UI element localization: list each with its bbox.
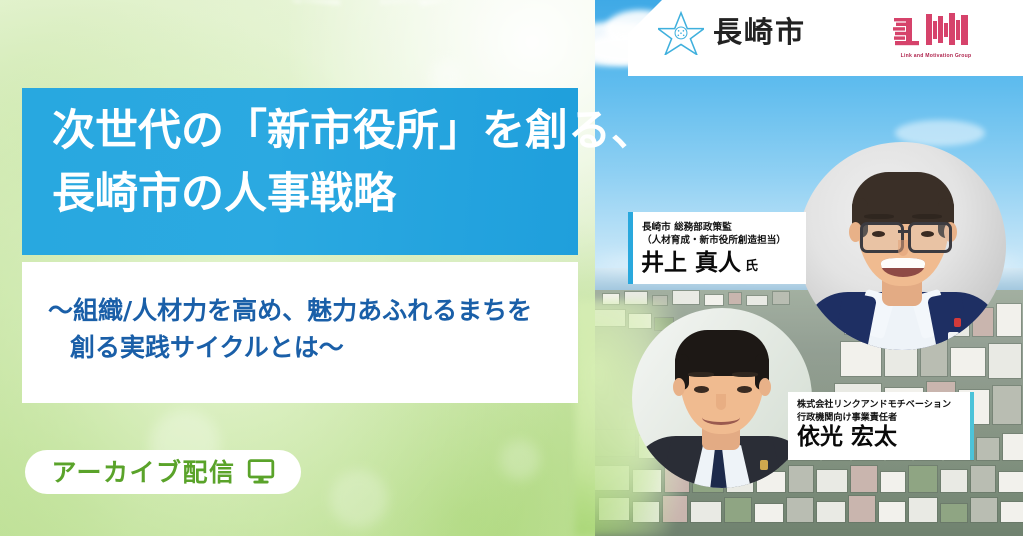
ear-left bbox=[673, 378, 685, 396]
subtitle-block: ～組織/人材力を高め、魅力あふれるまちを 創る実践サイクルとは～ bbox=[22, 262, 578, 403]
webinar-banner: 長崎市 bbox=[0, 0, 1023, 536]
glasses-right-lens bbox=[908, 222, 952, 253]
speaker-1-name: 井上 真人氏 bbox=[641, 252, 758, 275]
mouth-smiling bbox=[702, 410, 740, 425]
speaker-2-accent-bar bbox=[970, 392, 974, 460]
speaker-1-accent-bar bbox=[628, 212, 633, 284]
lm-mark-icon bbox=[892, 10, 980, 50]
glasses-bridge bbox=[898, 230, 908, 233]
speaker-2-card: 株式会社リンクアンドモチベーション 行政機関向け事業責任者 依光 宏太 bbox=[788, 392, 974, 460]
ear-right bbox=[759, 378, 771, 396]
eye-right bbox=[737, 386, 752, 393]
star-logo-icon bbox=[658, 9, 704, 55]
lm-caption: Link and Motivation Group bbox=[880, 53, 992, 59]
eye-left bbox=[872, 231, 885, 237]
lapel-pin bbox=[954, 318, 961, 327]
name-badge bbox=[948, 332, 959, 348]
speaker-2-name: 依光 宏太 bbox=[797, 426, 897, 449]
speaker-1-name-suffix: 氏 bbox=[745, 259, 758, 274]
logo-bar: 長崎市 bbox=[628, 0, 1023, 76]
link-and-motivation-logo: Link and Motivation Group bbox=[880, 10, 992, 59]
speaker-2-org-line-2: 行政機関向け事業責任者 bbox=[797, 412, 951, 425]
nagasaki-city-logo: 長崎市 bbox=[658, 9, 806, 55]
title-block: 次世代の「新市役所」を創る、 長崎市の人事戦略 bbox=[22, 88, 578, 255]
eye-right bbox=[921, 231, 934, 237]
nose bbox=[898, 240, 908, 256]
eyebrow-left bbox=[688, 372, 714, 377]
eyebrow-right bbox=[732, 372, 758, 377]
speaker-1-org: 長崎市 総務部政策監 （人材育成・新市役所創造担当） bbox=[642, 221, 786, 247]
teeth bbox=[881, 258, 925, 268]
speaker-2-name-text: 依光 宏太 bbox=[797, 424, 897, 450]
speaker-2-org-line-1: 株式会社リンクアンドモチベーション bbox=[797, 399, 951, 412]
eyebrow-right bbox=[912, 214, 942, 219]
speaker-1-photo bbox=[798, 142, 1006, 350]
bokeh-blob bbox=[330, 470, 388, 528]
speaker-1-card: 長崎市 総務部政策監 （人材育成・新市役所創造担当） 井上 真人氏 bbox=[628, 212, 806, 284]
archive-badge-label: アーカイブ配信 bbox=[51, 460, 235, 485]
title-line-2: 長崎市の人事戦略 bbox=[52, 172, 396, 218]
eye-left bbox=[694, 386, 709, 393]
title-line-1: 次世代の「新市役所」を創る、 bbox=[52, 109, 654, 155]
archive-delivery-badge[interactable]: アーカイブ配信 bbox=[25, 450, 301, 494]
speaker-1-org-line-1: 長崎市 総務部政策監 bbox=[642, 221, 786, 234]
bokeh-blob bbox=[500, 440, 540, 480]
subtitle-line-1: ～組織/人材力を高め、魅力あふれるまちを bbox=[48, 294, 532, 327]
lapel-badge bbox=[760, 460, 768, 470]
subtitle-line-2: 創る実践サイクルとは～ bbox=[70, 331, 344, 364]
nagasaki-city-label: 長崎市 bbox=[713, 18, 806, 47]
speaker-2-org: 株式会社リンクアンドモチベーション 行政機関向け事業責任者 bbox=[797, 399, 951, 424]
nose bbox=[716, 394, 726, 410]
eyebrow-left bbox=[864, 214, 894, 219]
monitor-icon bbox=[247, 459, 275, 485]
speaker-2-photo bbox=[632, 308, 812, 488]
speaker-1-org-line-2: （人材育成・新市役所創造担当） bbox=[642, 234, 786, 247]
speaker-1-name-text: 井上 真人 bbox=[641, 250, 741, 276]
